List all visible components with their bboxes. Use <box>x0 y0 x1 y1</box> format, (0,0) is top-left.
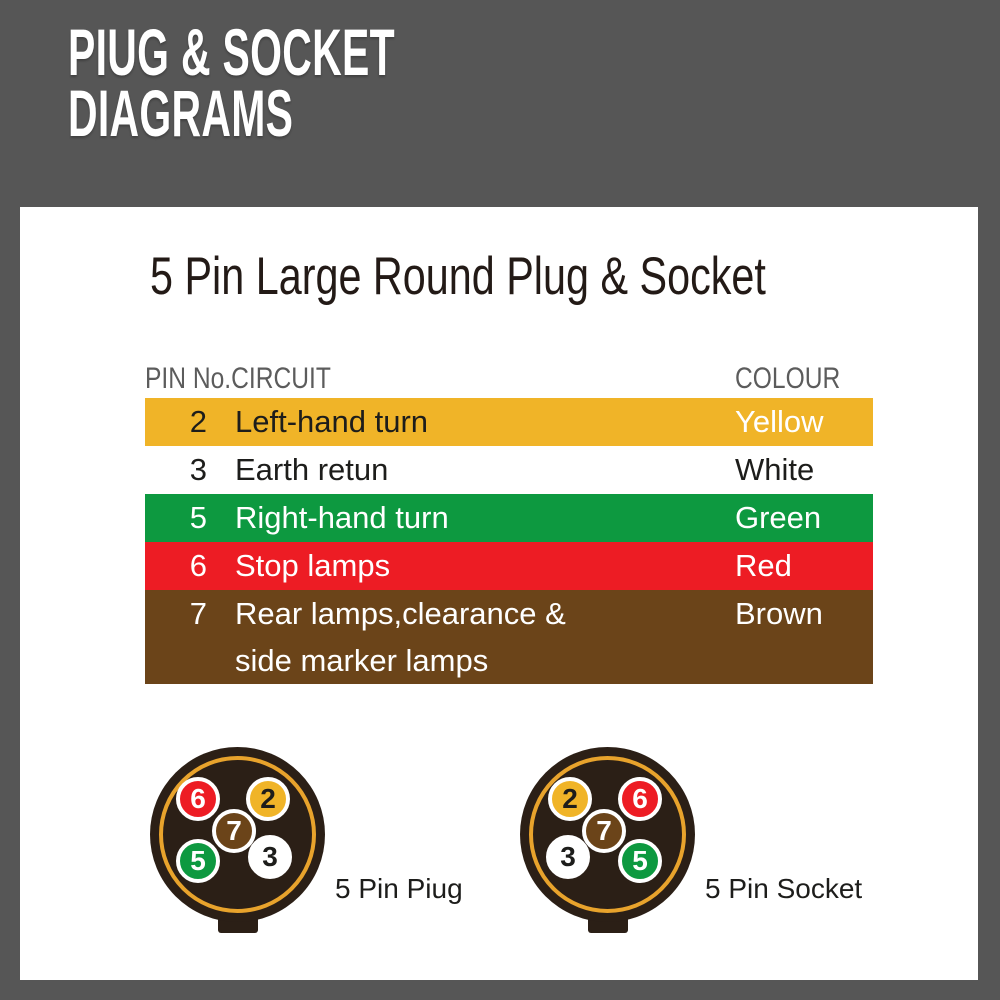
cell-wire-colour: Brown <box>735 590 873 637</box>
section-subtitle: 5 Pin Large Round Plug & Socket <box>150 246 766 307</box>
cell-pin-number: 6 <box>145 542 207 589</box>
plug-caption: 5 Pin Piug <box>335 873 463 905</box>
table-header-row: PIN No.CIRCUIT COLOUR <box>145 360 873 398</box>
table-row: 5Right-hand turnGreen <box>145 494 873 542</box>
table-row: 2Left-hand turnYellow <box>145 398 873 446</box>
cell-pin-number: 2 <box>145 398 207 445</box>
cell-pin-number: 7 <box>145 590 207 637</box>
socket-pin-6: 6 <box>618 777 662 821</box>
table-row: 7Rear lamps,clearance & side marker lamp… <box>145 590 873 684</box>
socket-diagram-group: 26735 5 Pin Socket <box>520 747 820 962</box>
cell-pin-number: 3 <box>145 446 207 493</box>
socket-pin-7: 7 <box>582 809 626 853</box>
table-body: 2Left-hand turnYellow3Earth retunWhite5R… <box>145 398 873 684</box>
cell-pin-number: 5 <box>145 494 207 541</box>
cell-wire-colour: Yellow <box>735 398 873 445</box>
cell-circuit-description: Stop lamps <box>207 542 735 589</box>
socket-pin-2: 2 <box>548 777 592 821</box>
plug-connector-body: 62753 <box>150 747 325 922</box>
plug-pin-2: 2 <box>246 777 290 821</box>
socket-pin-3: 3 <box>546 835 590 879</box>
column-header-colour: COLOUR <box>735 362 848 396</box>
cell-wire-colour: White <box>735 446 873 493</box>
page-title: PIUG & SOCKET DIAGRAMS <box>68 22 614 143</box>
socket-connector-body: 26735 <box>520 747 695 922</box>
plug-pin-3: 3 <box>248 835 292 879</box>
socket-pin-5: 5 <box>618 839 662 883</box>
cell-wire-colour: Red <box>735 542 873 589</box>
header-band: PIUG & SOCKET DIAGRAMS <box>0 0 1000 207</box>
cell-circuit-description: Earth retun <box>207 446 735 493</box>
wiring-table: PIN No.CIRCUIT COLOUR 2Left-hand turnYel… <box>145 360 873 684</box>
plug-diagram-group: 62753 5 Pin Piug <box>150 747 450 962</box>
cell-wire-colour: Green <box>735 494 873 541</box>
plug-pin-6: 6 <box>176 777 220 821</box>
socket-caption: 5 Pin Socket <box>705 873 862 905</box>
cell-circuit-description: Rear lamps,clearance & side marker lamps <box>207 590 735 684</box>
table-row: 3Earth retunWhite <box>145 446 873 494</box>
connector-diagrams: 62753 5 Pin Piug 26735 5 Pin Socket <box>20 747 978 962</box>
plug-pin-5: 5 <box>176 839 220 883</box>
cell-circuit-description: Right-hand turn <box>207 494 735 541</box>
content-panel: 5 Pin Large Round Plug & Socket PIN No.C… <box>20 207 978 980</box>
cell-circuit-description: Left-hand turn <box>207 398 735 445</box>
page-title-line-2: DIAGRAMS <box>68 83 614 144</box>
page-title-line-1: PIUG & SOCKET <box>68 22 614 83</box>
column-header-pin-circuit: PIN No.CIRCUIT <box>145 362 629 396</box>
table-row: 6Stop lampsRed <box>145 542 873 590</box>
